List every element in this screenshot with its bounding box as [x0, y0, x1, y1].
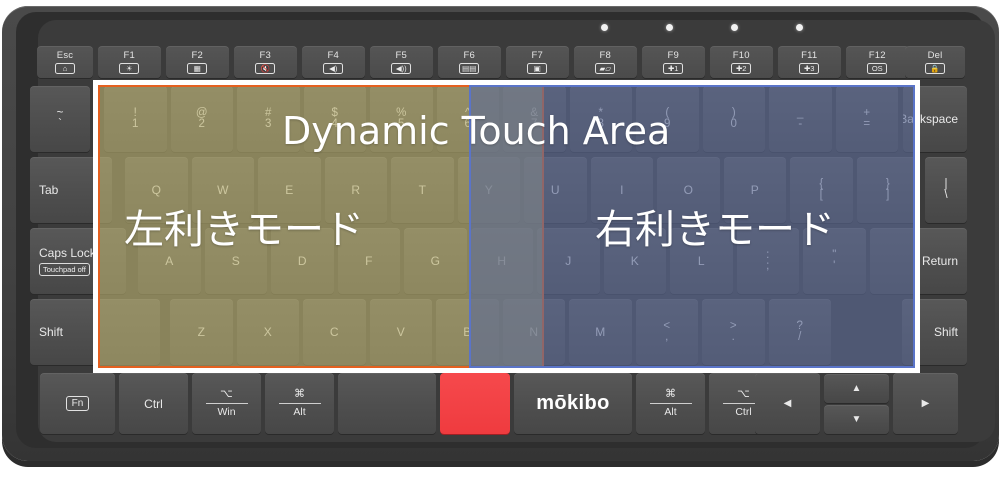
- fn-key-label-f8: F8: [600, 50, 612, 61]
- backslash-key[interactable]: |\: [925, 157, 967, 223]
- bluetooth-1-icon: ✚1: [663, 63, 683, 74]
- fn-key-f5[interactable]: F5◀)): [370, 46, 434, 78]
- alt-key-right[interactable]: ⌘Alt: [636, 373, 705, 434]
- tilde-key-base-label: `: [58, 119, 62, 131]
- fn-key-label-f2: F2: [192, 50, 204, 61]
- fn-key-label-f3: F3: [260, 50, 272, 61]
- ctrl-key-right-label: Ctrl: [735, 407, 751, 419]
- status-led-1: [601, 24, 608, 31]
- arrow-key-left[interactable]: ◀: [755, 373, 820, 434]
- tilde-key[interactable]: ~`: [30, 86, 90, 152]
- keyboard-device: Esc⌂F1☀F2▦F3🔇F4◀)F5◀))F6▤▤F7▣F8▰▱F9✚1F10…: [0, 0, 1001, 478]
- right-hand-mode-label: 右利きモード: [595, 197, 835, 255]
- fn-key-del[interactable]: Del🔒: [905, 46, 965, 78]
- fn-key-f4[interactable]: F4◀): [302, 46, 366, 78]
- shift-key-left-label: Shift: [39, 325, 63, 339]
- status-led-row: [0, 24, 1001, 34]
- arrow-down-icon: ▼: [852, 414, 862, 425]
- fn-key-f12[interactable]: F12OS: [846, 46, 910, 78]
- spacebar-brand[interactable]: mōkibo: [514, 373, 632, 434]
- arrow-right-icon: ▶: [922, 398, 930, 409]
- lock-icon: 🔒: [925, 63, 945, 74]
- arrow-up-icon: ▲: [852, 383, 862, 394]
- alt-key-left-divider: [279, 403, 321, 404]
- fn-key-label-esc: Esc: [57, 50, 73, 61]
- mokibo-brand-logo: mōkibo: [536, 392, 610, 415]
- arrow-left-icon: ◀: [784, 398, 792, 409]
- fn-key-label-f9: F9: [668, 50, 680, 61]
- left-touch-key[interactable]: [440, 373, 510, 434]
- status-led-2: [666, 24, 673, 31]
- screenshot-icon: ▣: [527, 63, 547, 74]
- home-icon: ⌂: [55, 63, 75, 74]
- volume-up-icon: ◀)): [391, 63, 411, 74]
- arrow-key-up[interactable]: ▲: [824, 374, 889, 403]
- left-hand-mode-label: 左利きモード: [124, 197, 364, 255]
- overlay-title: Dynamic Touch Area: [282, 109, 670, 153]
- dynamic-touch-area-overlay: Dynamic Touch Area 左利きモード 右利きモード: [93, 80, 920, 373]
- win-key-divider: [206, 403, 248, 404]
- volume-down-icon: ◀): [323, 63, 343, 74]
- alt-key-left[interactable]: ⌘Alt: [265, 373, 334, 434]
- arrow-key-right[interactable]: ▶: [893, 373, 958, 434]
- fn-key-label-f6: F6: [464, 50, 476, 61]
- fn-key-label-f4: F4: [328, 50, 340, 61]
- return-key-label: Return: [922, 254, 958, 268]
- os-switch-icon: OS: [867, 63, 887, 74]
- brightness-down-icon: ☀: [119, 63, 139, 74]
- shift-key-right-label: Shift: [934, 325, 958, 339]
- win-key-symbol: ⌥: [220, 388, 233, 400]
- alt-key-right-symbol: ⌘: [665, 388, 676, 400]
- alt-key-right-divider: [650, 403, 692, 404]
- mute-icon: 🔇: [255, 63, 275, 74]
- keyboard-light-icon: ▦: [187, 63, 207, 74]
- fn-key-f7[interactable]: F7▣: [506, 46, 570, 78]
- fn-key-f6[interactable]: F6▤▤: [438, 46, 502, 78]
- fn-key-label-f10: F10: [733, 50, 750, 61]
- fn-key-f3[interactable]: F3🔇: [234, 46, 298, 78]
- fn-key-label-f1: F1: [124, 50, 136, 61]
- fn-key[interactable]: Fn: [40, 373, 115, 434]
- alt-key-left-symbol: ⌘: [294, 388, 305, 400]
- fn-key-label-f12: F12: [869, 50, 886, 61]
- win-key-label: Win: [217, 407, 235, 419]
- ctrl-key-right-symbol: ⌥: [737, 388, 750, 400]
- win-key[interactable]: ⌥Win: [192, 373, 261, 434]
- ctrl-key-left-label: Ctrl: [144, 397, 163, 411]
- fn-key-f10[interactable]: F10✚2: [710, 46, 774, 78]
- backslash-key-base-label: \: [944, 190, 947, 202]
- spacebar[interactable]: [338, 373, 436, 434]
- fn-key-label: Fn: [66, 396, 90, 411]
- fn-key-f11[interactable]: F11✚3: [778, 46, 842, 78]
- caps-lock-key-label: Caps Lock: [39, 246, 96, 260]
- alt-key-right-label: Alt: [664, 407, 676, 419]
- fn-key-f2[interactable]: F2▦: [166, 46, 230, 78]
- arrow-key-down[interactable]: ▼: [824, 405, 889, 434]
- bluetooth-2-icon: ✚2: [731, 63, 751, 74]
- ctrl-key-left[interactable]: Ctrl: [119, 373, 188, 434]
- fn-key-f9[interactable]: F9✚1: [642, 46, 706, 78]
- fn-key-f8[interactable]: F8▰▱: [574, 46, 638, 78]
- app-switch-icon: ▤▤: [459, 63, 479, 74]
- fn-key-esc[interactable]: Esc⌂: [37, 46, 93, 78]
- status-led-3: [731, 24, 738, 31]
- battery-icon: ▰▱: [595, 63, 615, 74]
- tab-key-label: Tab: [39, 183, 58, 197]
- touchpad-off-badge: Touchpad off: [39, 263, 90, 276]
- fn-key-label-del: Del: [928, 50, 943, 61]
- fn-key-label-f5: F5: [396, 50, 408, 61]
- fn-key-label-f7: F7: [532, 50, 544, 61]
- bluetooth-3-icon: ✚3: [799, 63, 819, 74]
- fn-key-f1[interactable]: F1☀: [98, 46, 162, 78]
- fn-key-label-f11: F11: [801, 50, 817, 61]
- alt-key-left-label: Alt: [293, 407, 305, 419]
- status-led-4: [796, 24, 803, 31]
